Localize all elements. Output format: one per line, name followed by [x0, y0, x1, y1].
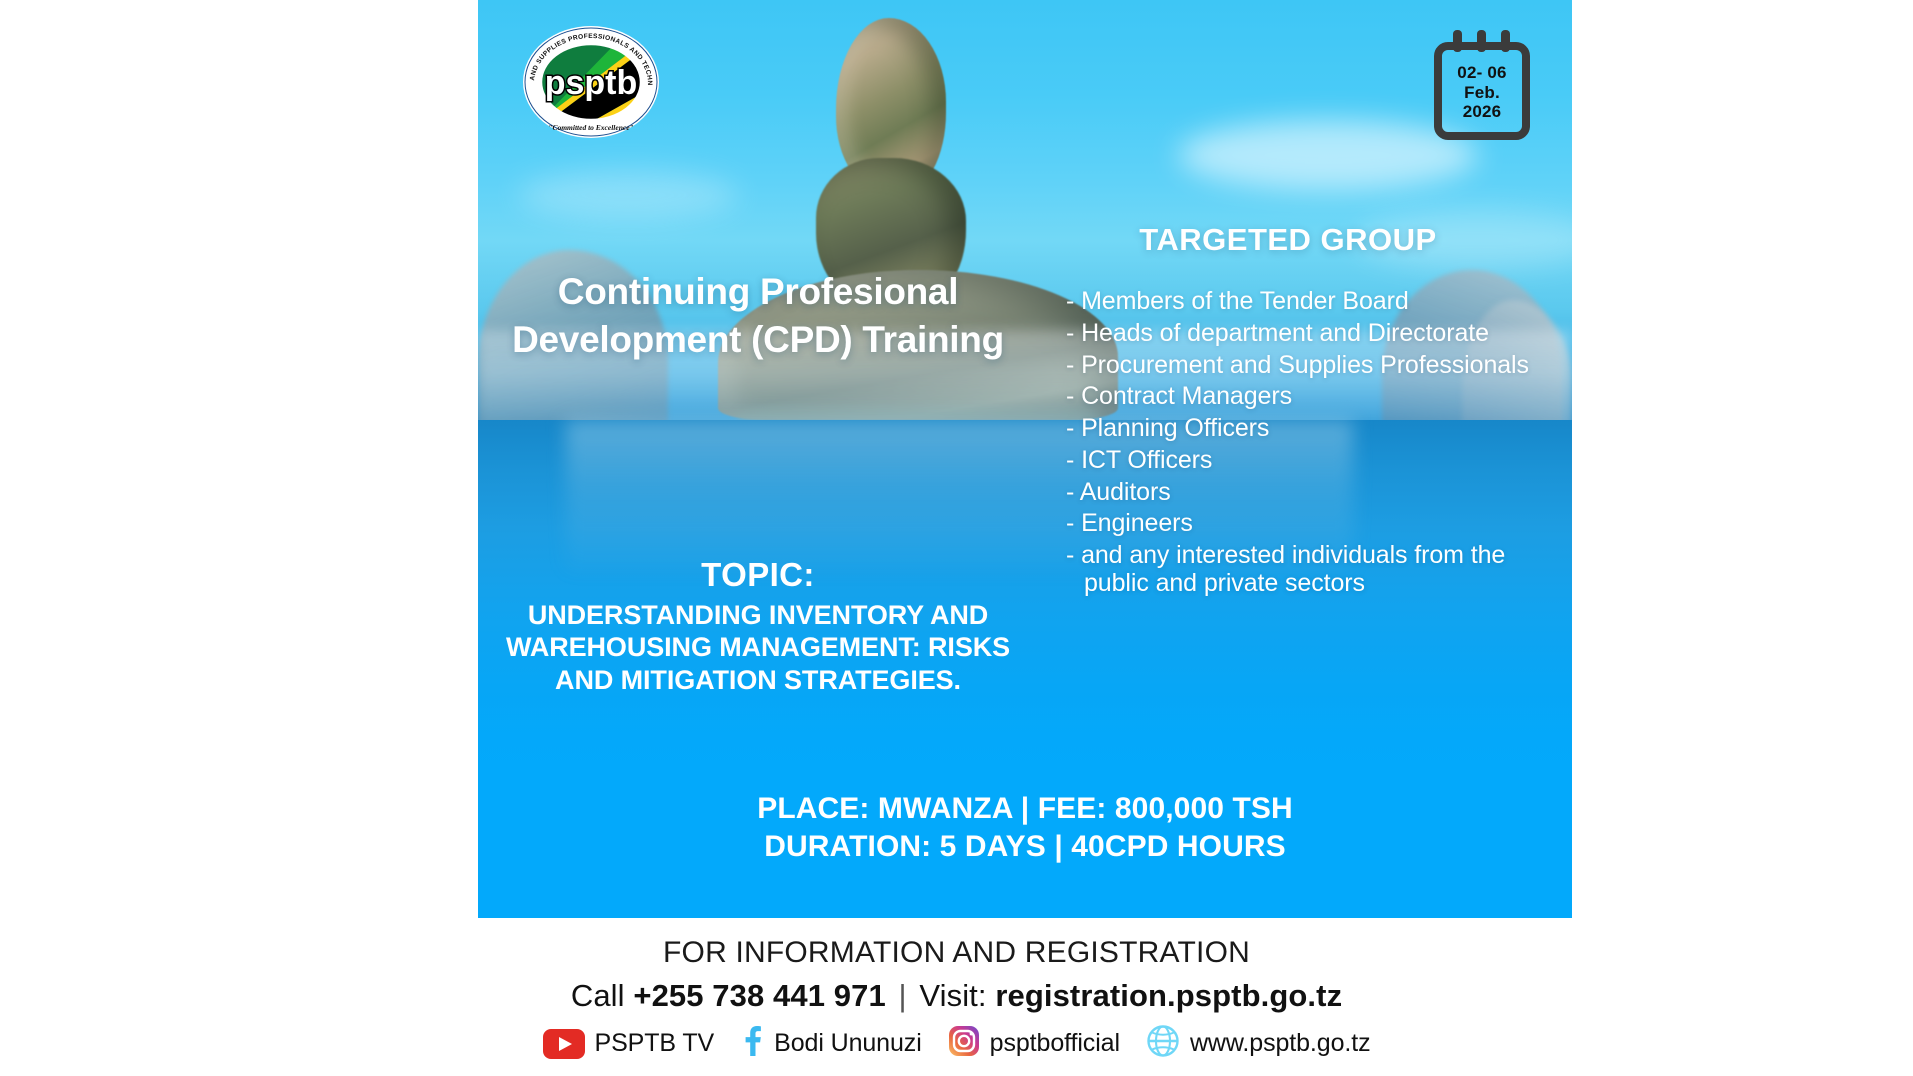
event-details-line-2: DURATION: 5 DAYS | 40CPD HOURS [478, 828, 1572, 866]
poster-page: psptb PROCUREMENT AND SUPPLIES PROFESSIO… [0, 0, 1913, 1076]
svg-text:psptb: psptb [545, 64, 638, 102]
targeted-group-list: - Members of the Tender Board - Heads of… [1066, 288, 1566, 602]
list-item: - Auditors [1066, 479, 1566, 507]
poster-headline: Continuing Profesional Development (CPD)… [498, 268, 1018, 364]
social-link-website[interactable]: www.psptb.go.tz [1146, 1024, 1371, 1063]
social-label-website: www.psptb.go.tz [1190, 1029, 1371, 1058]
calendar-date-range: 02- 06 [1457, 64, 1506, 82]
targeted-group-title: TARGETED GROUP [1038, 222, 1538, 258]
list-item: - Members of the Tender Board [1066, 288, 1566, 316]
social-link-instagram[interactable]: psptbofficial [948, 1025, 1120, 1062]
footer-contact-line: Call +255 738 441 971 | Visit: registrat… [0, 978, 1913, 1014]
calendar-icon: 02- 06 Feb. 2026 [1434, 30, 1530, 140]
youtube-icon [543, 1029, 585, 1059]
topic-label: TOPIC: [498, 556, 1018, 594]
social-label-facebook: Bodi Ununuzi [774, 1029, 922, 1058]
calendar-month: Feb. [1464, 84, 1500, 102]
calendar-body: 02- 06 Feb. 2026 [1434, 42, 1530, 140]
footer-info-heading: FOR INFORMATION AND REGISTRATION [0, 936, 1913, 970]
list-item: - Heads of department and Directorate [1066, 320, 1566, 348]
topic-text: UNDERSTANDING INVENTORY AND WAREHOUSING … [498, 599, 1018, 696]
topic-block: TOPIC: UNDERSTANDING INVENTORY AND WAREH… [498, 556, 1018, 696]
list-item: - Contract Managers [1066, 383, 1566, 411]
calendar-year: 2026 [1463, 103, 1502, 121]
footer-contact-bar: FOR INFORMATION AND REGISTRATION Call +2… [0, 918, 1913, 1076]
registration-url[interactable]: registration.psptb.go.tz [995, 978, 1342, 1013]
social-links: PSPTB TV Bodi Ununuzi [0, 1024, 1913, 1063]
list-item: - ICT Officers [1066, 447, 1566, 475]
cloud-shape [518, 170, 738, 220]
instagram-icon [948, 1025, 980, 1062]
globe-icon [1146, 1024, 1180, 1063]
poster-artwork-panel: psptb PROCUREMENT AND SUPPLIES PROFESSIO… [478, 0, 1572, 918]
social-label-youtube: PSPTB TV [595, 1029, 715, 1058]
footer-separator: | [895, 978, 911, 1013]
social-label-instagram: psptbofficial [990, 1029, 1120, 1058]
list-item: - Engineers [1066, 510, 1566, 538]
event-details: PLACE: MWANZA | FEE: 800,000 TSH DURATIO… [478, 790, 1572, 867]
list-item: - Planning Officers [1066, 415, 1566, 443]
social-link-youtube[interactable]: PSPTB TV [543, 1029, 715, 1059]
facebook-icon [740, 1025, 764, 1062]
psptb-logo: psptb PROCUREMENT AND SUPPLIES PROFESSIO… [520, 22, 662, 142]
social-link-facebook[interactable]: Bodi Ununuzi [740, 1025, 922, 1062]
event-details-line-1: PLACE: MWANZA | FEE: 800,000 TSH [478, 790, 1572, 828]
svg-text:"Committed to Excellence": "Committed to Excellence" [548, 123, 633, 132]
cloud-shape [1178, 120, 1478, 190]
phone-number[interactable]: +255 738 441 971 [633, 978, 885, 1013]
call-label: Call [571, 978, 625, 1013]
visit-label: Visit: [919, 978, 986, 1013]
list-item: - and any interested individuals from th… [1066, 542, 1566, 598]
list-item: - Procurement and Supplies Professionals [1066, 352, 1566, 380]
